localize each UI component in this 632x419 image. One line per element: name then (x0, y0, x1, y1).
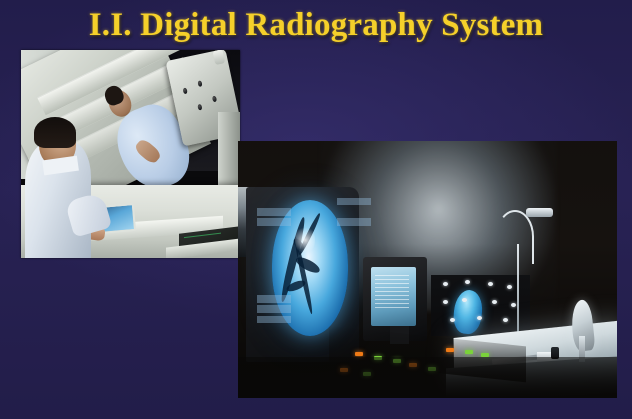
gantry-knob (212, 95, 217, 102)
gantry-knob (183, 87, 188, 94)
panel-indicator-dot (477, 316, 482, 320)
monitor-bezel-label (257, 295, 291, 303)
panel-indicator-dot (462, 298, 467, 302)
foreground-shadow (238, 357, 617, 398)
monitor-bezel-label (257, 305, 291, 313)
page-title: I.I. Digital Radiography System (0, 4, 632, 46)
crt-monitor-screen (371, 267, 416, 326)
monitor-bezel-label (337, 198, 371, 206)
indicator-button-orange[interactable] (355, 352, 363, 356)
monitor-bezel-label (337, 218, 371, 226)
gooseneck-lamp-arc (496, 210, 534, 263)
panel-indicator-dot (507, 285, 512, 289)
indicator-button-orange[interactable] (446, 348, 454, 352)
gooseneck-lamp-head (526, 208, 553, 217)
monitor-bezel-label (257, 316, 291, 324)
x-ray-tube-head (213, 50, 225, 65)
photo-control-room (238, 141, 617, 398)
panel-indicator-dot (511, 303, 516, 307)
indicator-button-green[interactable] (465, 350, 473, 354)
monitor-bezel-label (257, 218, 291, 226)
gantry-knob (198, 81, 203, 88)
screen-highlight (295, 225, 315, 255)
monitor-bezel-label (257, 208, 291, 216)
photo-exam-room (21, 50, 240, 258)
vessel-trace (294, 255, 321, 276)
gantry-knob (198, 104, 203, 111)
technician-hair (34, 117, 76, 148)
presentation-slide: I.I. Digital Radiography System (0, 0, 632, 419)
